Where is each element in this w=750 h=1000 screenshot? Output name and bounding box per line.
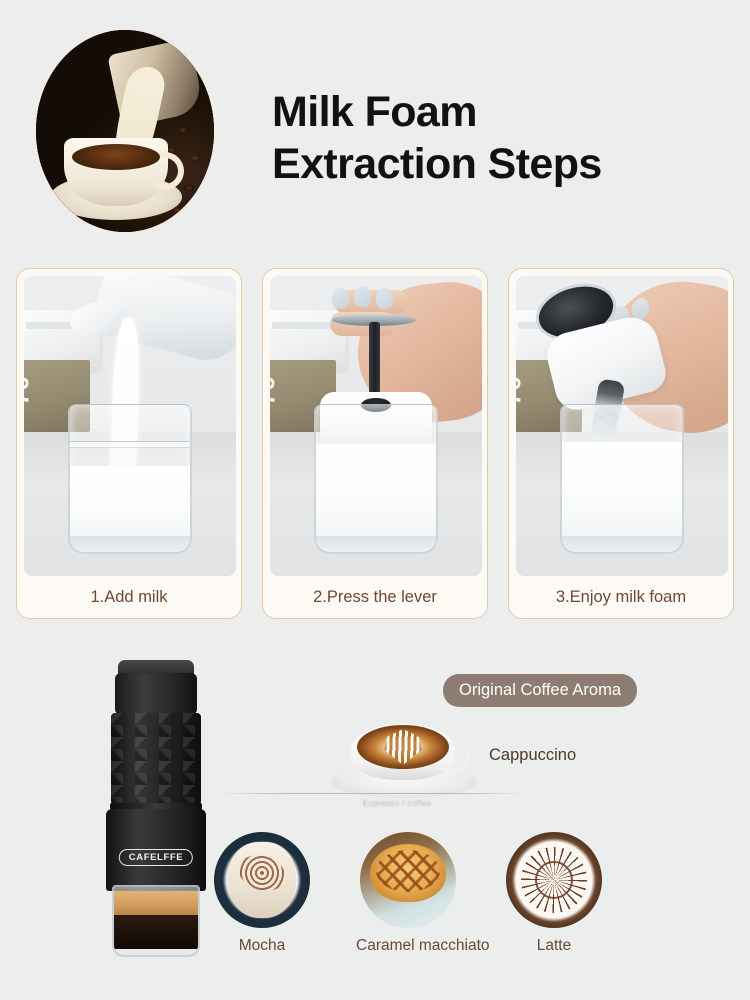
step-1-photo: 76 xyxy=(24,276,236,576)
crema-layer xyxy=(114,891,198,917)
status-badge: Original Coffee Aroma xyxy=(443,674,637,707)
steps-row: 76 1.Add milk 76 xyxy=(16,268,734,619)
step-2-caption: 2.Press the lever xyxy=(270,576,480,618)
cappuccino-image xyxy=(345,722,463,798)
drink-item-caramel-macchiato[interactable]: Caramel macchiato xyxy=(356,832,460,955)
fingernail xyxy=(354,286,371,307)
glass-base xyxy=(70,536,190,552)
espresso-machine: CAFELFFE xyxy=(96,660,216,960)
drink-label: Latte xyxy=(502,937,606,955)
machine-grip xyxy=(111,713,201,805)
cappuccino-label: Cappuccino xyxy=(489,746,576,765)
header: Milk Foam Extraction Steps xyxy=(0,0,750,248)
machine-neck xyxy=(115,673,197,715)
box-number-label: 76 xyxy=(516,376,527,406)
step-card-1[interactable]: 76 1.Add milk xyxy=(16,268,242,619)
step-3-caption: 3.Enjoy milk foam xyxy=(516,576,726,618)
fingernail xyxy=(332,288,349,309)
step-card-3[interactable]: 76 3.Enjoy milk foam xyxy=(508,268,734,619)
latte-art xyxy=(357,725,449,769)
espresso-glass xyxy=(112,885,200,957)
latte-thumbnail xyxy=(506,832,602,928)
glass-base xyxy=(562,536,682,552)
glass-base xyxy=(316,536,436,552)
brand-logo: CAFELFFE xyxy=(119,849,193,866)
glass-cup xyxy=(68,404,192,554)
step-1-caption: 1.Add milk xyxy=(24,576,234,618)
drink-item-mocha[interactable]: Mocha xyxy=(210,832,314,955)
glass-cup xyxy=(560,404,684,554)
drink-item-latte[interactable]: Latte xyxy=(502,832,606,955)
mocha-thumbnail xyxy=(214,832,310,928)
drinks-row: Mocha Caramel macchiato Latte xyxy=(210,832,740,955)
drink-label: Mocha xyxy=(210,937,314,955)
step-3-photo: 76 xyxy=(516,276,728,576)
hero-coffee-image xyxy=(36,30,214,232)
box-number-label: 76 xyxy=(270,376,281,406)
machine-body: CAFELFFE xyxy=(106,809,206,891)
fingernail xyxy=(376,288,393,309)
glass-ring xyxy=(68,441,192,448)
box-number-label: 76 xyxy=(24,376,35,406)
drink-label: Caramel macchiato xyxy=(356,937,460,955)
promo-subtext: Espresso / coffee xyxy=(363,799,431,808)
coffee-surface xyxy=(72,144,160,170)
espresso-layer xyxy=(114,915,198,949)
step-card-2[interactable]: 76 2.Press the lever xyxy=(262,268,488,619)
caramel-macchiato-thumbnail xyxy=(360,832,456,928)
divider xyxy=(218,793,526,794)
step-2-photo: 76 xyxy=(270,276,482,576)
glass-cup xyxy=(314,404,438,554)
page-title: Milk Foam Extraction Steps xyxy=(272,86,602,191)
